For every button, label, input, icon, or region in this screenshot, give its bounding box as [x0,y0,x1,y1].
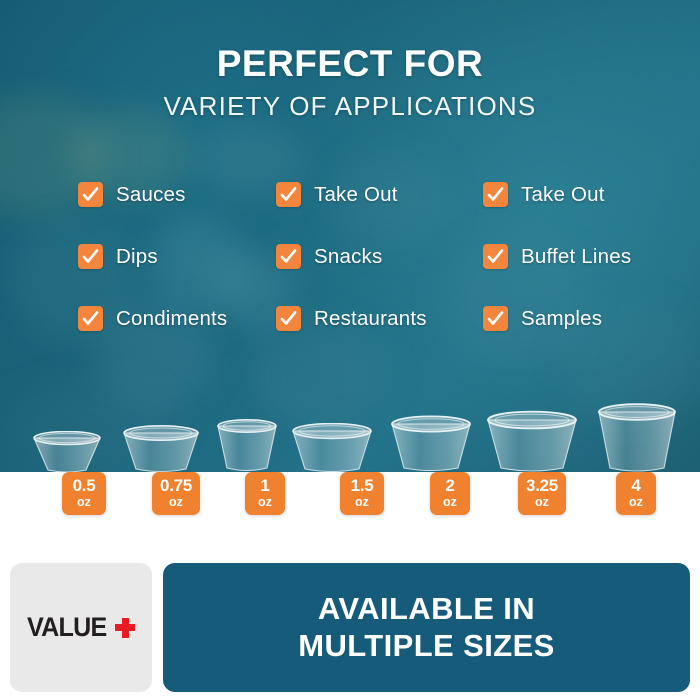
value-plus-logo: VALUE [27,612,136,643]
check-mark-icon [276,244,301,269]
plus-icon [115,618,135,638]
size-badge-unit: oz [62,496,106,509]
portion-cup [387,415,475,473]
size-badge: 2 oz [430,472,470,515]
portion-cup [31,431,103,473]
checklist-item: Condiments [78,306,276,331]
checklist-item-label: Buffet Lines [521,245,631,269]
size-badge-unit: oz [245,496,285,509]
portion-cup [288,423,376,473]
check-mark-icon [78,244,103,269]
brand-logo-panel: VALUE [10,563,152,692]
check-mark-icon [483,182,508,207]
checklist-item-label: Sauces [116,183,186,207]
portion-cup [214,418,280,473]
size-badge-value: 2 [430,477,470,494]
check-mark-icon [78,182,103,207]
size-badge: 1 oz [245,472,285,515]
product-feature-image: PERFECT FOR VARIETY OF APPLICATIONS Sauc… [0,0,700,700]
size-badge-unit: oz [340,496,384,509]
size-badge: 4 oz [616,472,656,515]
checklist-item-label: Take Out [521,183,605,207]
size-badge: 0.5 oz [62,472,106,515]
check-mark-icon [483,244,508,269]
check-mark-icon [276,306,301,331]
size-badge: 3.25 oz [518,472,566,515]
footer-bar: VALUE AVAILABLE IN MULTIPLE SIZES [0,555,700,700]
check-mark-icon [78,306,103,331]
portion-cup [594,402,680,474]
checklist-row: Sauces Take Out Take Out [78,182,678,244]
checklist-row: Condiments Restaurants Samples [78,306,678,368]
cta-line-2: MULTIPLE SIZES [298,628,554,665]
portion-cup [483,410,581,474]
size-badge: 1.5 oz [340,472,384,515]
checklist-row: Dips Snacks Buffet Lines [78,244,678,306]
cta-panel: AVAILABLE IN MULTIPLE SIZES [163,563,690,692]
checklist-item: Snacks [276,244,483,269]
checklist-item: Take Out [276,182,483,207]
checklist-item-label: Take Out [314,183,398,207]
logo-wordmark: VALUE [27,612,107,643]
size-badge-value: 0.5 [62,477,106,494]
checklist-item: Buffet Lines [483,244,678,269]
checklist-item: Sauces [78,182,276,207]
headline-subtitle: VARIETY OF APPLICATIONS [0,91,700,122]
checklist-item: Take Out [483,182,678,207]
cta-line-1: AVAILABLE IN [318,591,535,628]
size-badge-unit: oz [152,496,200,509]
checklist-item-label: Samples [521,307,602,331]
size-badge-value: 0.75 [152,477,200,494]
checklist-item-label: Restaurants [314,307,427,331]
size-badge: 0.75 oz [152,472,200,515]
size-badge-value: 1.5 [340,477,384,494]
checklist-item: Samples [483,306,678,331]
check-mark-icon [276,182,301,207]
applications-checklist: Sauces Take Out Take Out Dips [78,182,678,368]
check-mark-icon [483,306,508,331]
checklist-item-label: Snacks [314,245,382,269]
size-badge-value: 1 [245,477,285,494]
checklist-item-label: Dips [116,245,158,269]
portion-cup [120,425,202,473]
checklist-item: Restaurants [276,306,483,331]
size-badge-unit: oz [518,496,566,509]
checklist-item-label: Condiments [116,307,227,331]
size-badge-unit: oz [430,496,470,509]
size-badge-value: 4 [616,477,656,494]
size-badge-value: 3.25 [518,477,566,494]
headline-title: PERFECT FOR [0,43,700,85]
checklist-item: Dips [78,244,276,269]
size-badge-unit: oz [616,496,656,509]
